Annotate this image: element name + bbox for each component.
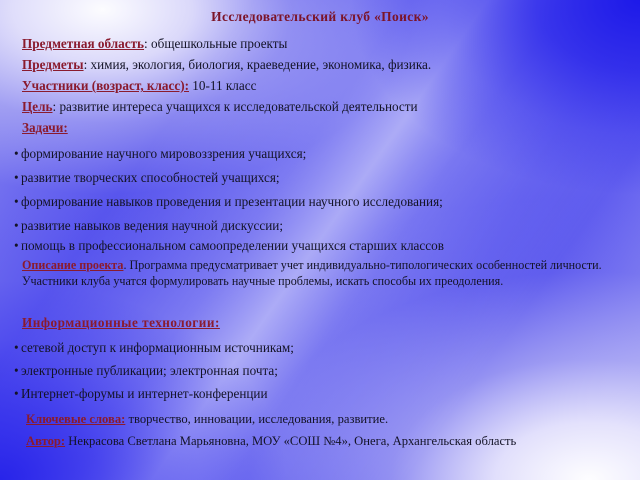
field-participants-value: 10-11 класс <box>189 78 256 93</box>
field-goal: Цель: развитие интереса учащихся к иссле… <box>22 100 628 114</box>
field-subject-area-label: Предметная область <box>22 36 144 51</box>
field-goal-label: Цель <box>22 99 52 114</box>
technologies-list-item: •Интернет-форумы и интернет-конференции <box>14 387 630 401</box>
technologies-list-item-text: электронные публикации; электронная почт… <box>21 363 278 378</box>
bullet-icon: • <box>14 219 21 233</box>
field-subjects-label: Предметы <box>22 57 84 72</box>
tasks-list-item-text: развитие творческих способностей учащихс… <box>21 170 280 185</box>
field-participants: Участники (возраст, класс): 10-11 класс <box>22 79 628 93</box>
author-label: Автор: <box>26 434 65 448</box>
field-participants-label: Участники (возраст, класс): <box>22 78 189 93</box>
keywords-value: творчество, инновации, исследования, раз… <box>125 412 388 426</box>
field-subject-area-value: общешкольные проекты <box>148 36 288 51</box>
slide-title: Исследовательский клуб «Поиск» <box>0 9 640 25</box>
bullet-icon: • <box>14 195 21 209</box>
bullet-icon: • <box>14 387 21 401</box>
slide-content: Исследовательский клуб «Поиск» Предметна… <box>0 0 640 480</box>
tasks-list-item-text: формирование научного мировоззрения учащ… <box>21 146 306 161</box>
technologies-heading-label: Информационные технологии: <box>22 315 220 330</box>
tasks-heading: Задачи: <box>22 121 628 135</box>
bullet-icon: • <box>14 171 21 185</box>
bullet-icon: • <box>14 364 21 378</box>
field-goal-value: развитие интереса учащихся к исследовате… <box>56 99 417 114</box>
presentation-slide: Исследовательский клуб «Поиск» Предметна… <box>0 0 640 480</box>
tasks-list-item: •формирование научного мировоззрения уча… <box>14 147 630 161</box>
author-line: Автор: Некрасова Светлана Марьяновна, МО… <box>26 434 630 450</box>
keywords-label: Ключевые слова: <box>26 412 125 426</box>
author-value: Некрасова Светлана Марьяновна, МОУ «СОШ … <box>65 434 516 448</box>
technologies-list-item: •сетевой доступ к информационным источни… <box>14 341 630 355</box>
field-subjects: Предметы: химия, экология, биология, кра… <box>22 58 628 72</box>
tasks-list-item-text: развитие навыков ведения научной дискусс… <box>21 218 283 233</box>
technologies-list-item-text: Интернет-форумы и интернет-конференции <box>21 386 268 401</box>
tasks-list-item-text: формирование навыков проведения и презен… <box>21 194 443 209</box>
tasks-list-item-text: помощь в профессиональном самоопределени… <box>21 238 444 253</box>
tasks-list-item: •формирование навыков проведения и презе… <box>14 195 630 209</box>
tasks-heading-label: Задачи: <box>22 120 68 135</box>
tasks-list-item: •развитие навыков ведения научной дискус… <box>14 219 630 233</box>
tasks-list-item: •развитие творческих способностей учащих… <box>14 171 630 185</box>
bullet-icon: • <box>14 239 21 253</box>
bullet-icon: • <box>14 147 21 161</box>
technologies-list-item-text: сетевой доступ к информационным источник… <box>21 340 294 355</box>
bullet-icon: • <box>14 341 21 355</box>
field-subjects-value: химия, экология, биология, краеведение, … <box>87 57 431 72</box>
project-description-label: Описание проекта <box>22 258 123 272</box>
keywords-line: Ключевые слова: творчество, инновации, и… <box>26 412 626 428</box>
tasks-list-item: •помощь в профессиональном самоопределен… <box>14 239 630 253</box>
field-subject-area: Предметная область: общешкольные проекты <box>22 37 628 51</box>
technologies-list-item: •электронные публикации; электронная поч… <box>14 364 630 378</box>
technologies-heading: Информационные технологии: <box>22 316 628 330</box>
project-description: Описание проекта. Программа предусматрив… <box>22 258 612 289</box>
